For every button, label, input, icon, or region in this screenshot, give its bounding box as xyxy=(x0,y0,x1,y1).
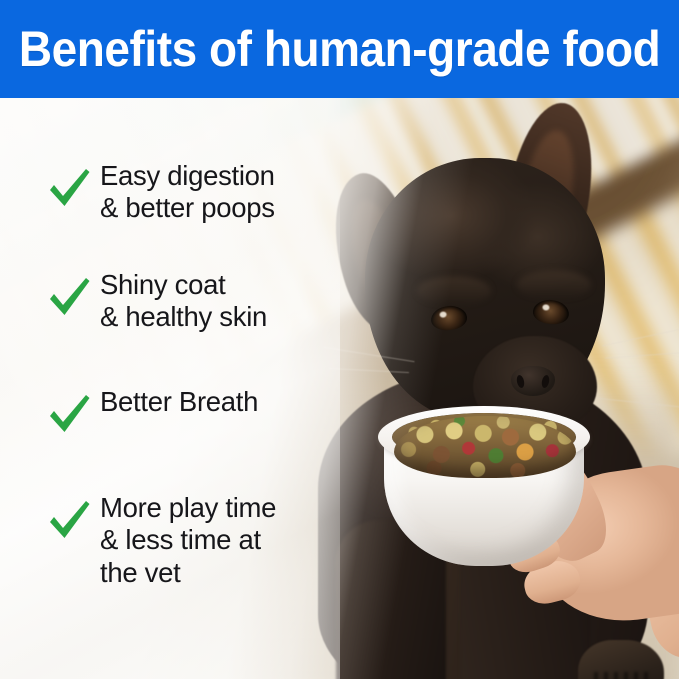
green-checkmark-icon xyxy=(46,166,92,212)
benefit-item-better-breath: Better Breath xyxy=(46,384,346,438)
dog-eye-right xyxy=(532,298,570,326)
dog-whisker xyxy=(597,398,679,412)
green-checkmark-icon xyxy=(46,498,92,544)
benefit-label: Shiny coat & healthy skin xyxy=(100,267,267,334)
green-checkmark-icon xyxy=(46,392,92,438)
dog-food-bowl xyxy=(378,398,590,570)
benefits-poster: Benefits of human-grade food Easy digest… xyxy=(0,0,679,679)
benefits-list: Easy digestion & better poops Shiny coat… xyxy=(46,158,346,589)
dog-eye-left xyxy=(430,304,468,332)
benefit-item-shiny-coat: Shiny coat & healthy skin xyxy=(46,267,346,334)
dog-whisker xyxy=(602,323,679,347)
benefit-label: Better Breath xyxy=(100,384,258,418)
page-title: Benefits of human-grade food xyxy=(19,24,660,74)
dog-whisker xyxy=(605,350,679,358)
benefit-label: Easy digestion & better poops xyxy=(100,158,275,225)
dog-nose xyxy=(511,366,555,396)
benefit-label: More play time & less time at the vet xyxy=(100,490,276,589)
food-contents xyxy=(394,416,576,478)
dog-head xyxy=(365,158,605,420)
green-checkmark-icon xyxy=(46,275,92,321)
dog-brow-right xyxy=(517,270,591,300)
benefit-item-easy-digestion: Easy digestion & better poops xyxy=(46,158,346,225)
header-banner: Benefits of human-grade food xyxy=(0,0,679,98)
dog-brow-left xyxy=(417,276,491,306)
benefit-item-more-play-time: More play time & less time at the vet xyxy=(46,490,346,589)
